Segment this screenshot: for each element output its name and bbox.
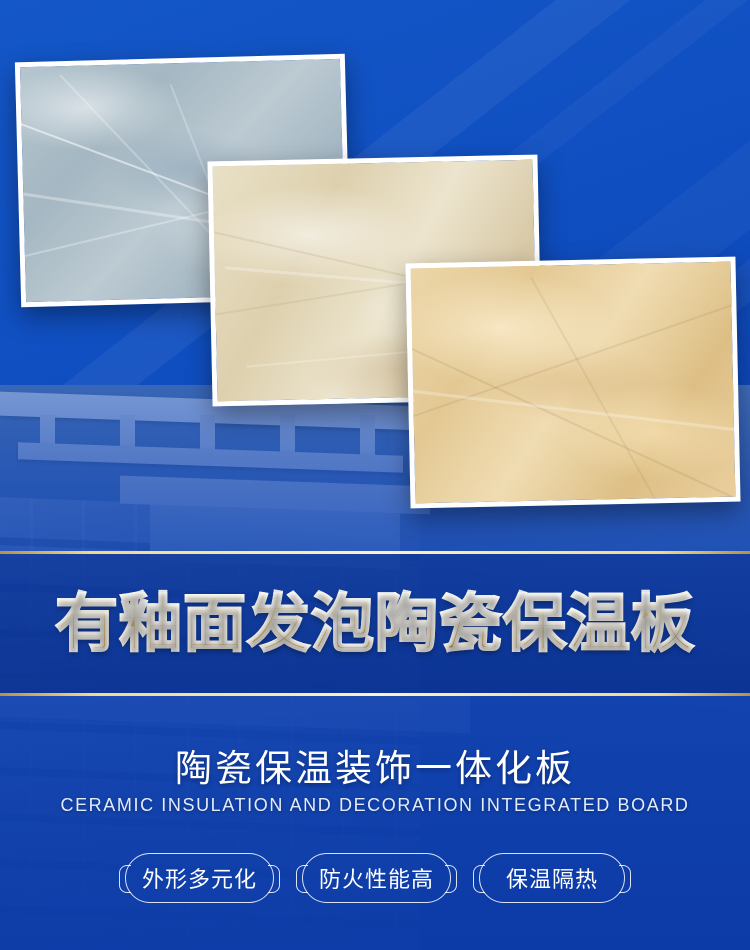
- pill-left-cap-icon: [296, 865, 308, 893]
- feature-pill-1: 外形多元化: [125, 853, 274, 903]
- page-title: 有釉面发泡陶瓷保温板: [55, 592, 695, 655]
- subtitle-chinese: 陶瓷保温装饰一体化板: [0, 738, 750, 792]
- headline-band: 有釉面发泡陶瓷保温板: [0, 554, 750, 693]
- pill-right-cap-icon: [445, 865, 457, 893]
- product-poster: 有釉面发泡陶瓷保温板 陶瓷保温装饰一体化板 CERAMIC INSULATION…: [0, 0, 750, 950]
- feature-pill-2: 防火性能高: [302, 853, 451, 903]
- pill-left-cap-icon: [119, 865, 131, 893]
- pill-right-cap-icon: [268, 865, 280, 893]
- subtitle-english: CERAMIC INSULATION AND DECORATION INTEGR…: [0, 795, 750, 816]
- tile-texture: [411, 262, 736, 504]
- sample-tile-golden-marble: [405, 257, 740, 509]
- gold-divider-bottom: [0, 693, 750, 696]
- pill-left-cap-icon: [473, 865, 485, 893]
- feature-pill-label: 保温隔热: [506, 862, 598, 894]
- feature-pill-label: 外形多元化: [142, 862, 257, 894]
- pill-right-cap-icon: [619, 865, 631, 893]
- feature-pill-list: 外形多元化 防火性能高 保温隔热: [0, 853, 750, 903]
- feature-pill-label: 防火性能高: [319, 862, 434, 894]
- feature-pill-3: 保温隔热: [479, 853, 625, 903]
